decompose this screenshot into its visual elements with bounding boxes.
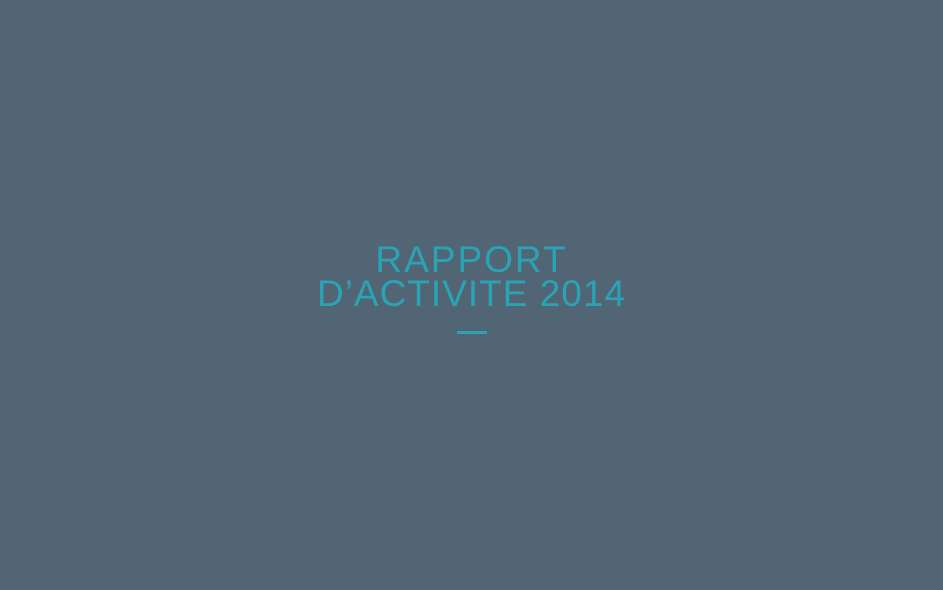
title-block: RAPPORT D’ACTIVITE 2014 (0, 243, 943, 334)
cover-slide: RAPPORT D’ACTIVITE 2014 (0, 0, 943, 590)
title-divider (457, 331, 487, 334)
page-title-line-2: D’ACTIVITE 2014 (317, 277, 626, 311)
page-title-line-1: RAPPORT (375, 243, 567, 277)
